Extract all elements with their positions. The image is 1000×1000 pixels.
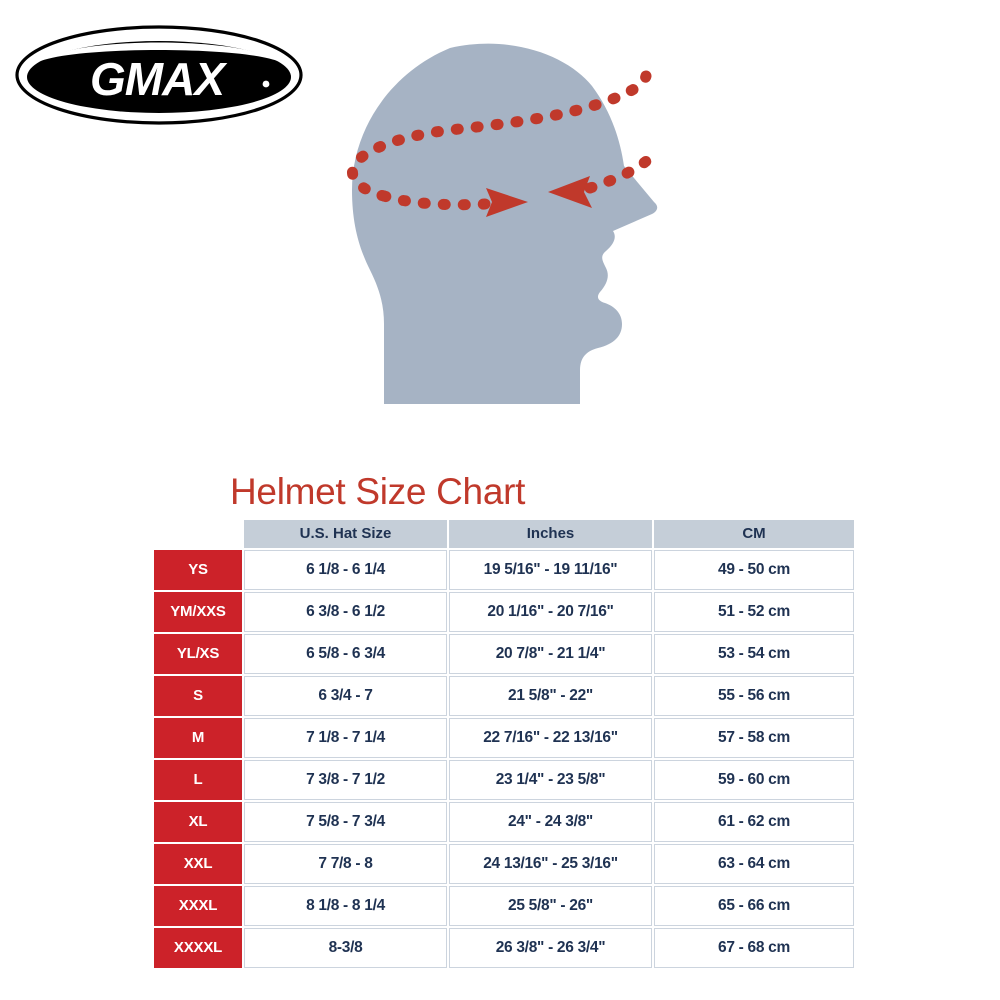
cm-cell: 61 - 62 cm [654,802,854,842]
table-row: YL/XS6 5/8 - 6 3/420 7/8" - 21 1/4"53 - … [154,634,854,674]
table-row: XL7 5/8 - 7 3/424" - 24 3/8"61 - 62 cm [154,802,854,842]
cm-cell: 49 - 50 cm [654,550,854,590]
size-chart-table: U.S. Hat Size Inches CM YS6 1/8 - 6 1/41… [152,518,856,970]
inches-cell: 24" - 24 3/8" [449,802,652,842]
hat-size-cell: 8-3/8 [244,928,447,968]
cm-cell: 51 - 52 cm [654,592,854,632]
cm-cell: 67 - 68 cm [654,928,854,968]
hat-size-cell: 7 5/8 - 7 3/4 [244,802,447,842]
table-row: XXXL8 1/8 - 8 1/425 5/8" - 26"65 - 66 cm [154,886,854,926]
page-title: Helmet Size Chart [230,472,852,512]
svg-text:GMAX: GMAX [90,53,227,105]
size-label-cell: XL [154,802,242,842]
cm-cell: 59 - 60 cm [654,760,854,800]
helmet-size-chart: Helmet Size Chart U.S. Hat Size Inches C… [152,472,852,970]
size-label-cell: XXXXL [154,928,242,968]
column-header-inches: Inches [449,520,652,548]
hat-size-cell: 7 1/8 - 7 1/4 [244,718,447,758]
cm-cell: 57 - 58 cm [654,718,854,758]
cm-cell: 55 - 56 cm [654,676,854,716]
table-row: YM/XXS6 3/8 - 6 1/220 1/16" - 20 7/16"51… [154,592,854,632]
size-label-cell: YS [154,550,242,590]
hat-size-cell: 6 3/4 - 7 [244,676,447,716]
size-label-cell: XXXL [154,886,242,926]
cm-cell: 63 - 64 cm [654,844,854,884]
size-label-cell: L [154,760,242,800]
inches-cell: 21 5/8" - 22" [449,676,652,716]
inches-cell: 20 1/16" - 20 7/16" [449,592,652,632]
hat-size-cell: 6 3/8 - 6 1/2 [244,592,447,632]
table-row: XXL7 7/8 - 824 13/16" - 25 3/16"63 - 64 … [154,844,854,884]
inches-cell: 20 7/8" - 21 1/4" [449,634,652,674]
inches-cell: 24 13/16" - 25 3/16" [449,844,652,884]
size-label-cell: XXL [154,844,242,884]
table-row: M7 1/8 - 7 1/422 7/16" - 22 13/16"57 - 5… [154,718,854,758]
inches-cell: 25 5/8" - 26" [449,886,652,926]
size-label-cell: YL/XS [154,634,242,674]
size-label-cell: YM/XXS [154,592,242,632]
inches-cell: 22 7/16" - 22 13/16" [449,718,652,758]
head-illustration-svg [280,18,730,448]
column-header-hat-size: U.S. Hat Size [244,520,447,548]
inches-cell: 23 1/4" - 23 5/8" [449,760,652,800]
table-row: YS6 1/8 - 6 1/419 5/16" - 19 11/16"49 - … [154,550,854,590]
head-measurement-illustration [280,18,730,448]
gmax-oval-logo: GMAX [14,22,304,128]
table-row: S6 3/4 - 721 5/8" - 22"55 - 56 cm [154,676,854,716]
cm-cell: 65 - 66 cm [654,886,854,926]
gmax-logo: GMAX [14,22,304,128]
table-row: L7 3/8 - 7 1/223 1/4" - 23 5/8"59 - 60 c… [154,760,854,800]
inches-cell: 26 3/8" - 26 3/4" [449,928,652,968]
table-body: YS6 1/8 - 6 1/419 5/16" - 19 11/16"49 - … [154,550,854,968]
column-header-cm: CM [654,520,854,548]
hat-size-cell: 7 7/8 - 8 [244,844,447,884]
hat-size-cell: 6 1/8 - 6 1/4 [244,550,447,590]
table-row: XXXXL8-3/826 3/8" - 26 3/4"67 - 68 cm [154,928,854,968]
cm-cell: 53 - 54 cm [654,634,854,674]
inches-cell: 19 5/16" - 19 11/16" [449,550,652,590]
hat-size-cell: 7 3/8 - 7 1/2 [244,760,447,800]
size-label-cell: S [154,676,242,716]
size-label-cell: M [154,718,242,758]
column-header-size [154,520,242,548]
hat-size-cell: 6 5/8 - 6 3/4 [244,634,447,674]
table-header-row: U.S. Hat Size Inches CM [154,520,854,548]
hat-size-cell: 8 1/8 - 8 1/4 [244,886,447,926]
